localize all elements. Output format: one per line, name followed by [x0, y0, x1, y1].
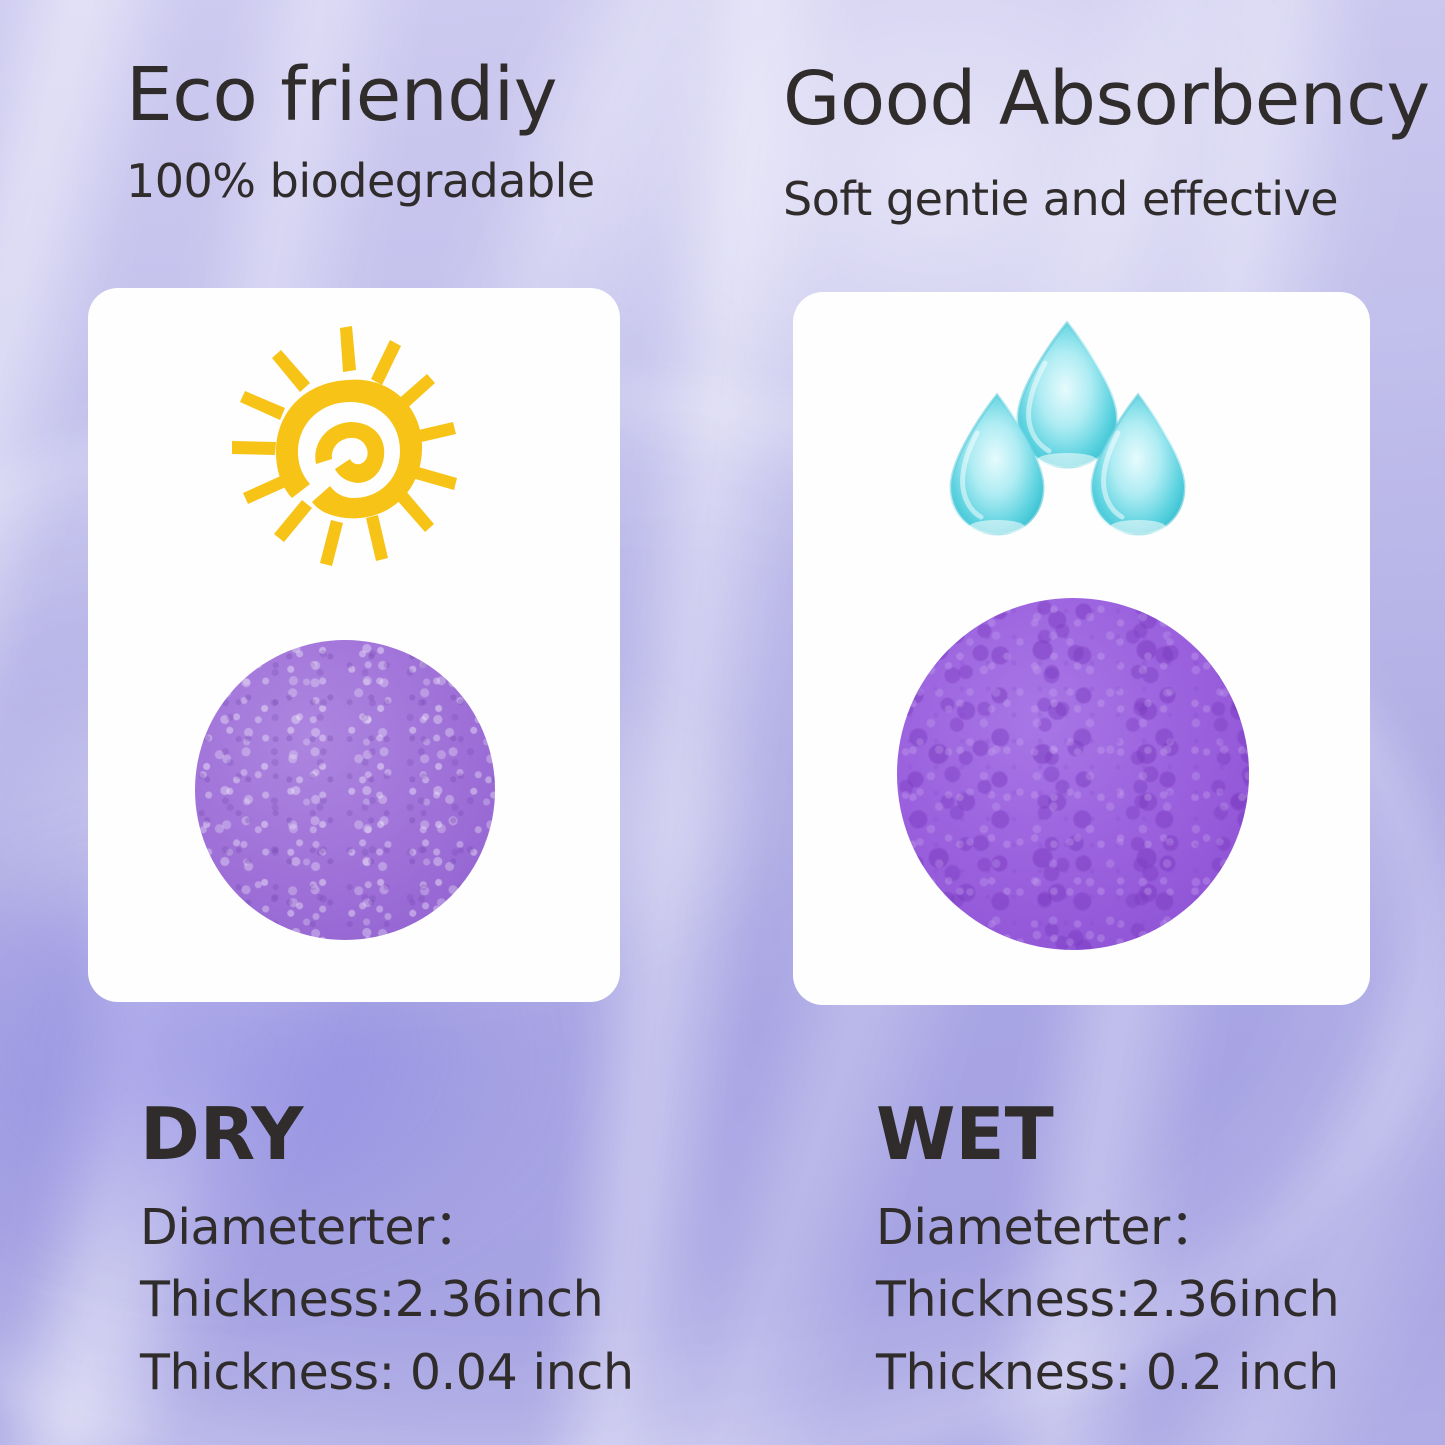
wet-state-label: WET — [876, 1098, 1054, 1170]
dry-state-label: DRY — [140, 1098, 303, 1170]
wet-sponge-disc — [897, 598, 1249, 950]
wet-spec-thickness-2: Thickness: 0.2 inch — [876, 1348, 1339, 1397]
absorbency-panel-subtitle: Soft gentie and effective — [783, 176, 1338, 222]
wet-sponge-texture-fine — [897, 598, 1249, 950]
eco-panel-title: Eco friendiy — [126, 58, 557, 132]
dry-spec-thickness-2: Thickness: 0.04 inch — [140, 1348, 634, 1397]
wet-spec-diameter: Diameterter： — [876, 1203, 1218, 1252]
dry-spec-diameter: Diameterter： — [140, 1203, 482, 1252]
eco-panel-subtitle: 100% biodegradable — [126, 158, 595, 204]
wet-spec-thickness-1: Thickness:2.36inch — [876, 1275, 1339, 1324]
sun-icon — [228, 318, 472, 570]
dry-sponge-disc — [195, 640, 495, 940]
water-drops-icon — [945, 315, 1190, 555]
dry-sponge-texture-pores — [195, 640, 495, 940]
absorbency-panel-title: Good Absorbency — [783, 62, 1430, 136]
dry-spec-thickness-1: Thickness:2.36inch — [140, 1275, 603, 1324]
infographic-page: Eco friendiy 100% biodegradable Good Abs… — [0, 0, 1445, 1445]
